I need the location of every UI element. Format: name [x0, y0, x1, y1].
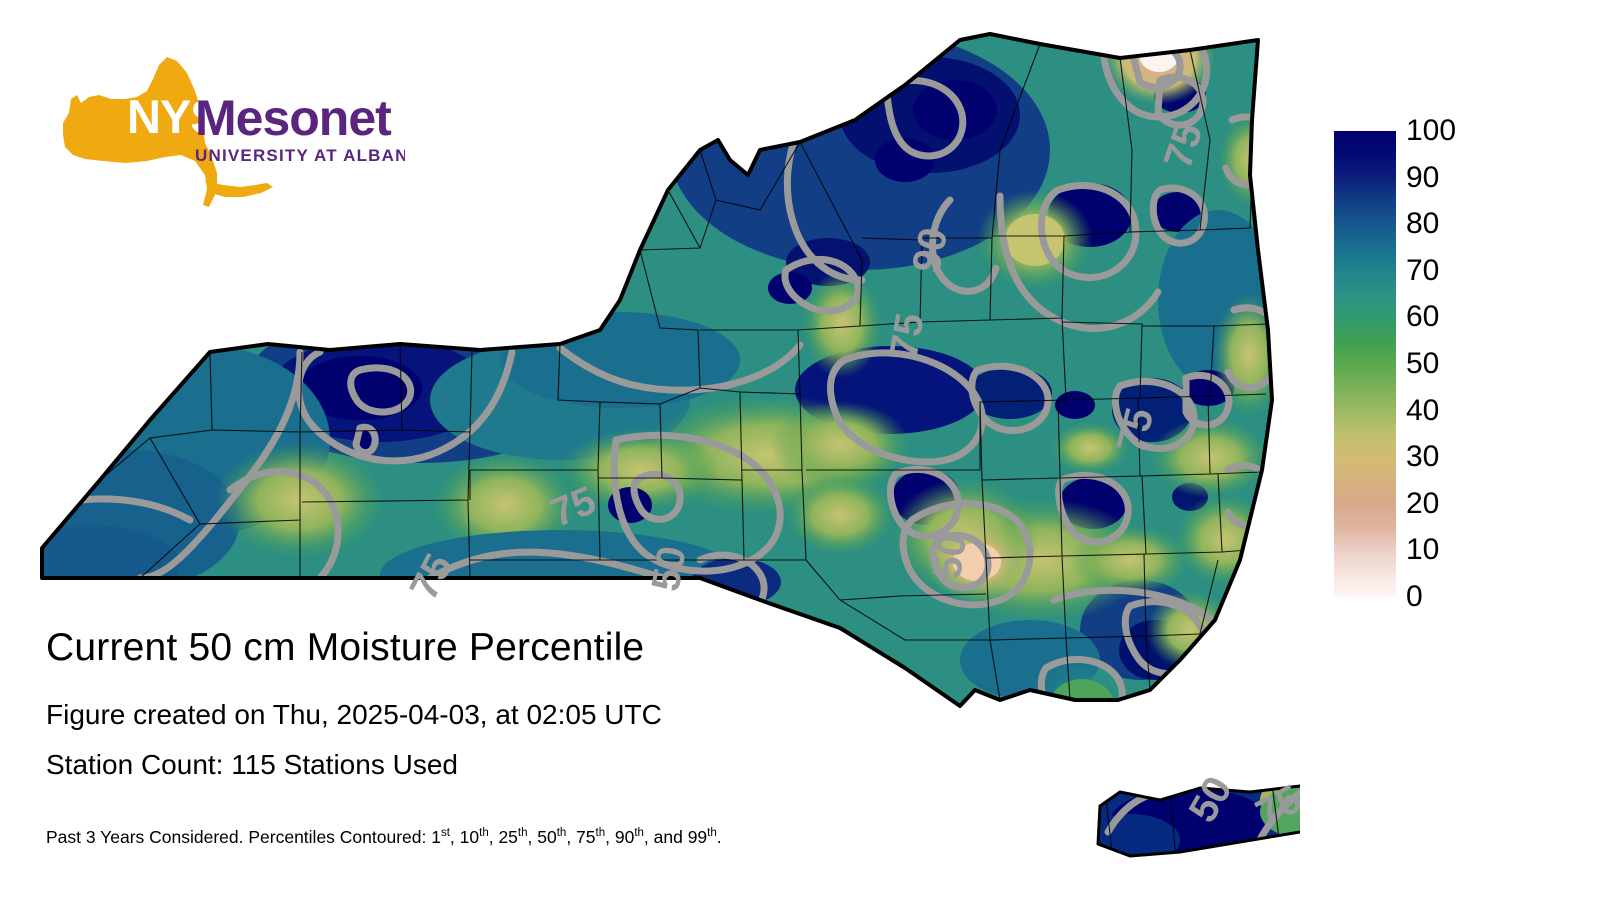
colorbar-tick-40: 40 — [1406, 396, 1494, 426]
contour-label: 50 — [925, 531, 975, 581]
colorbar-tick-0: 0 — [1406, 582, 1494, 612]
ordinal-suffix: th — [479, 827, 489, 839]
contour-label: 75 — [882, 310, 933, 361]
colorbar-tick-70: 70 — [1406, 256, 1494, 286]
colorbar-tick-80: 80 — [1406, 209, 1494, 239]
colorbar-tick-labels: 1009080706050403020100 — [1404, 100, 1494, 630]
logo-mesonet-text: Mesonet — [195, 90, 392, 146]
nys-mesonet-logo: NYS Mesonet UNIVERSITY AT ALBANY — [55, 55, 405, 215]
ordinal-suffix: th — [707, 827, 717, 839]
footnote: Past 3 Years Considered. Percentiles Con… — [46, 826, 722, 848]
ordinal-suffix: th — [518, 827, 528, 839]
page-title: Current 50 cm Moisture Percentile — [46, 625, 644, 671]
colorbar-tick-20: 20 — [1406, 489, 1494, 519]
colorbar-tick-100: 100 — [1406, 116, 1494, 146]
ordinal-suffix: th — [557, 827, 567, 839]
figure-canvas: 90 75 75 75 75 75 50 50 50 75 NYS Mesone… — [0, 0, 1600, 900]
ordinal-suffix: th — [596, 827, 606, 839]
logo-tagline: UNIVERSITY AT ALBANY — [195, 146, 405, 165]
contour-label: 90 — [904, 224, 956, 277]
colorbar — [1334, 131, 1396, 597]
ordinal-suffix: st — [441, 827, 450, 839]
colorbar-gradient — [1334, 131, 1396, 597]
colorbar-tick-30: 30 — [1406, 442, 1494, 472]
colorbar-tick-50: 50 — [1406, 349, 1494, 379]
colorbar-tick-60: 60 — [1406, 302, 1494, 332]
colorbar-tick-10: 10 — [1406, 535, 1494, 565]
colorbar-tick-90: 90 — [1406, 163, 1494, 193]
contour-label: 50 — [644, 543, 695, 594]
ordinal-suffix: th — [634, 827, 644, 839]
created-timestamp: Figure created on Thu, 2025-04-03, at 02… — [46, 698, 662, 732]
station-count: Station Count: 115 Stations Used — [46, 748, 458, 782]
